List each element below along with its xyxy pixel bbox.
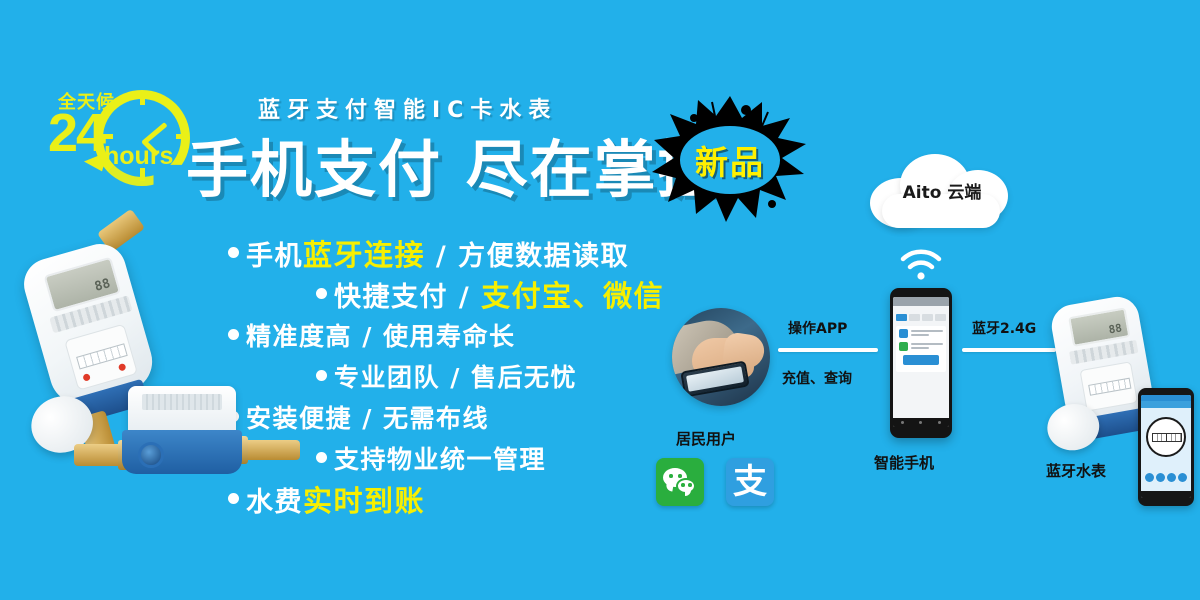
phone-screen — [893, 297, 949, 427]
phone-button — [935, 314, 946, 321]
phone-status-bar — [893, 297, 949, 306]
bullet-dot-icon — [316, 370, 327, 381]
promo-banner: 全天候 24 hours 蓝牙支付智能IC卡水表 手机支付 尽在掌握 新品 手机… — [0, 0, 1200, 600]
phone-payment-card — [896, 326, 946, 372]
nav-home-icon — [919, 421, 922, 424]
feature-text: 专业团队 / 售后无忧 — [334, 358, 577, 394]
valve-meter-label — [142, 394, 222, 410]
wechat-eye — [688, 483, 692, 487]
connection-label-bluetooth: 蓝牙2.4G — [972, 318, 1036, 338]
photo-phone-screen — [686, 366, 744, 391]
alipay-row-icon — [899, 329, 908, 338]
connection-label-app: 操作APP — [788, 318, 847, 338]
connection-label-recharge: 充值、查询 — [782, 368, 852, 388]
phone2-action-button[interactable] — [1178, 473, 1187, 482]
list-item: 手机蓝牙连接 / 方便数据读取 — [228, 232, 698, 273]
node-caption-meter: 蓝牙水表 — [1046, 460, 1106, 481]
phone-item-text — [911, 330, 943, 338]
wechat-pay-icon[interactable] — [656, 458, 704, 506]
new-product-badge: 新品 — [650, 92, 810, 227]
alipay-glyph: 支 — [726, 458, 774, 506]
wifi-icon — [898, 248, 944, 282]
wechat-eye — [678, 474, 682, 478]
cloud-label: Aito 云端 — [862, 178, 1022, 203]
phone-button — [922, 314, 933, 321]
phone2-action-button[interactable] — [1145, 473, 1154, 482]
phone2-action-button[interactable] — [1167, 473, 1176, 482]
wechat-bubble-small — [676, 478, 696, 494]
phone-button-row — [893, 312, 949, 323]
feature-text: 精准度高 / 使用寿命长 — [246, 317, 516, 353]
meter-dial — [1079, 361, 1138, 411]
bullet-dot-icon — [316, 288, 327, 299]
phone-item-text — [911, 343, 943, 351]
meter-lcd-value: 88 — [93, 276, 112, 295]
alipay-icon[interactable]: 支 — [726, 458, 774, 506]
meter-gauge-graphic — [1146, 417, 1186, 457]
meter-lcd-display: 88 — [1068, 307, 1130, 347]
phone2-action-row — [1141, 473, 1191, 482]
bullet-dot-icon — [316, 452, 327, 463]
meter-dial — [64, 324, 138, 391]
phone-button — [896, 314, 907, 321]
meter-gauge-register — [1152, 433, 1182, 442]
bullet-dot-icon — [228, 247, 239, 258]
feature-text: 快捷支付 / 支付宝、微信 — [334, 273, 664, 315]
list-item: 快捷支付 / 支付宝、微信 — [228, 273, 698, 314]
phone-button — [909, 314, 920, 321]
node-caption-resident: 居民用户 — [676, 428, 736, 449]
badge-number: 24 — [48, 106, 104, 160]
bullet-dot-icon — [228, 329, 239, 340]
feature-text: 支持物业统一管理 — [334, 440, 546, 476]
phone-list-item — [899, 329, 943, 338]
list-item: 精准度高 / 使用寿命长 — [228, 314, 698, 355]
feature-text: 手机蓝牙连接 / 方便数据读取 — [246, 232, 629, 274]
banner-title: 手机支付 尽在掌握 — [186, 119, 722, 209]
resident-user-photo — [672, 308, 770, 406]
meter-lcd-value: 88 — [1108, 321, 1123, 336]
wechat-eye — [681, 483, 685, 487]
valve-meter-top-cover — [128, 386, 236, 432]
phone2-screen — [1141, 395, 1191, 498]
clock-tick-top — [140, 92, 145, 105]
nav-back-icon — [901, 421, 904, 424]
payment-app-icons: 支 — [656, 458, 774, 506]
meter-register-digits — [1088, 378, 1131, 396]
phone-nav-bar — [893, 418, 949, 427]
smartphone-mockup — [890, 288, 952, 438]
meter-red-marker — [82, 373, 91, 382]
node-caption-smartphone: 智能手机 — [874, 452, 934, 473]
phone2-nav-bar — [1141, 491, 1191, 498]
water-meter-valve-product — [92, 382, 302, 502]
phone-list-item — [899, 342, 943, 351]
new-product-label: 新品 — [650, 136, 810, 184]
phone2-app-bar — [1141, 401, 1191, 408]
wechat-eye — [669, 474, 673, 478]
cloud-server-node: Aito 云端 — [862, 152, 1022, 230]
24-hours-badge: 全天候 24 hours — [48, 84, 198, 194]
meter-red-marker — [118, 363, 127, 372]
valve-meter-blue-body — [122, 430, 242, 474]
badge-unit: hours — [104, 142, 173, 171]
phone-confirm-button[interactable] — [903, 355, 939, 365]
nav-recent-icon — [938, 421, 941, 424]
wechat-row-icon — [899, 342, 908, 351]
phone2-action-button[interactable] — [1156, 473, 1165, 482]
meter-reading-app-phone — [1138, 388, 1194, 506]
connector-line-left — [778, 348, 878, 352]
valve-wheel-icon — [138, 442, 164, 468]
